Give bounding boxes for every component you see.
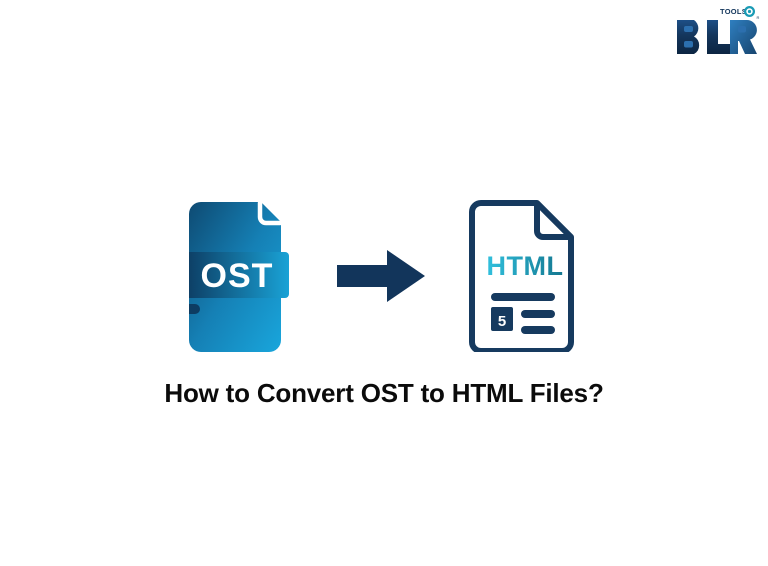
html-file-icon: HTML 5 bbox=[469, 200, 579, 352]
html-content-line-2 bbox=[521, 310, 555, 318]
conversion-illustration: OST HTML 5 bbox=[0, 196, 768, 356]
brand-logo-svg: TOOLS R bbox=[674, 4, 760, 58]
ost-file-icon: OST bbox=[189, 200, 293, 352]
html-content-line-1 bbox=[491, 293, 555, 301]
brand-name-letters bbox=[677, 20, 757, 54]
brand-tagline-text: TOOLS bbox=[720, 7, 747, 16]
ost-left-notch bbox=[189, 304, 200, 314]
page-title: How to Convert OST to HTML Files? bbox=[0, 378, 768, 408]
html5-badge-label: 5 bbox=[498, 313, 506, 330]
html-extension-label: HTML bbox=[487, 251, 564, 281]
html5-badge: 5 bbox=[491, 307, 513, 331]
ost-extension-label: OST bbox=[201, 257, 274, 295]
tools-gear-circle-icon bbox=[744, 6, 755, 17]
brand-logo: TOOLS R bbox=[674, 4, 760, 58]
trademark-mark: R bbox=[757, 15, 760, 20]
html-content-line-3 bbox=[521, 326, 555, 334]
right-arrow-icon bbox=[337, 250, 425, 302]
